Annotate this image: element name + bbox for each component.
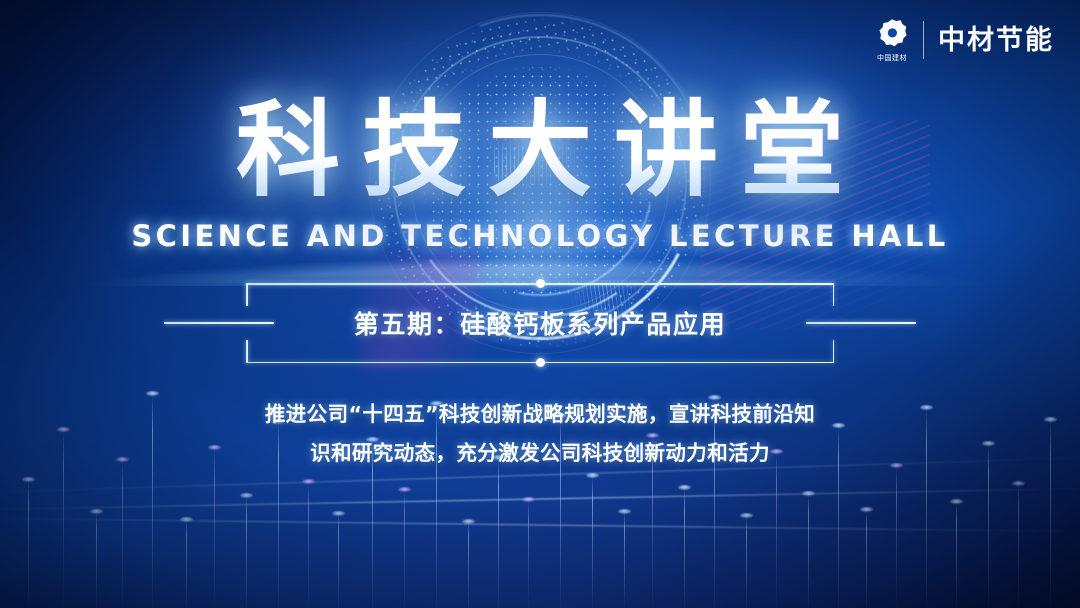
episode-label: 第五期：硅酸钙板系列产品应用 <box>164 283 916 363</box>
brand-divider <box>923 21 924 59</box>
description-block: 推进公司“十四五”科技创新战略规划实施，宣讲科技前沿知 识和研究动态，充分激发公… <box>215 395 865 473</box>
description-line-2: 识和研究动态，充分激发公司科技创新动力和活力 <box>215 434 865 473</box>
poster-canvas: 中国建材 中材节能 科技大讲堂 SCIENCE AND TECHNOLOGY L… <box>0 0 1080 608</box>
episode-frame: 第五期：硅酸钙板系列产品应用 <box>164 283 916 363</box>
page-subtitle-english: SCIENCE AND TECHNOLOGY LECTURE HALL <box>131 219 948 253</box>
poster-content: 科技大讲堂 SCIENCE AND TECHNOLOGY LECTURE HAL… <box>0 0 1080 608</box>
description-line-1: 推进公司“十四五”科技创新战略规划实施，宣讲科技前沿知 <box>215 395 865 434</box>
page-title: 科技大讲堂 <box>214 96 866 205</box>
cnbm-gear-logo-icon: 中国建材 <box>875 18 909 62</box>
brand-logo: 中国建材 中材节能 <box>875 18 1054 62</box>
brand-company-name: 中材节能 <box>938 27 1054 54</box>
brand-logo-caption: 中国建材 <box>877 55 907 62</box>
